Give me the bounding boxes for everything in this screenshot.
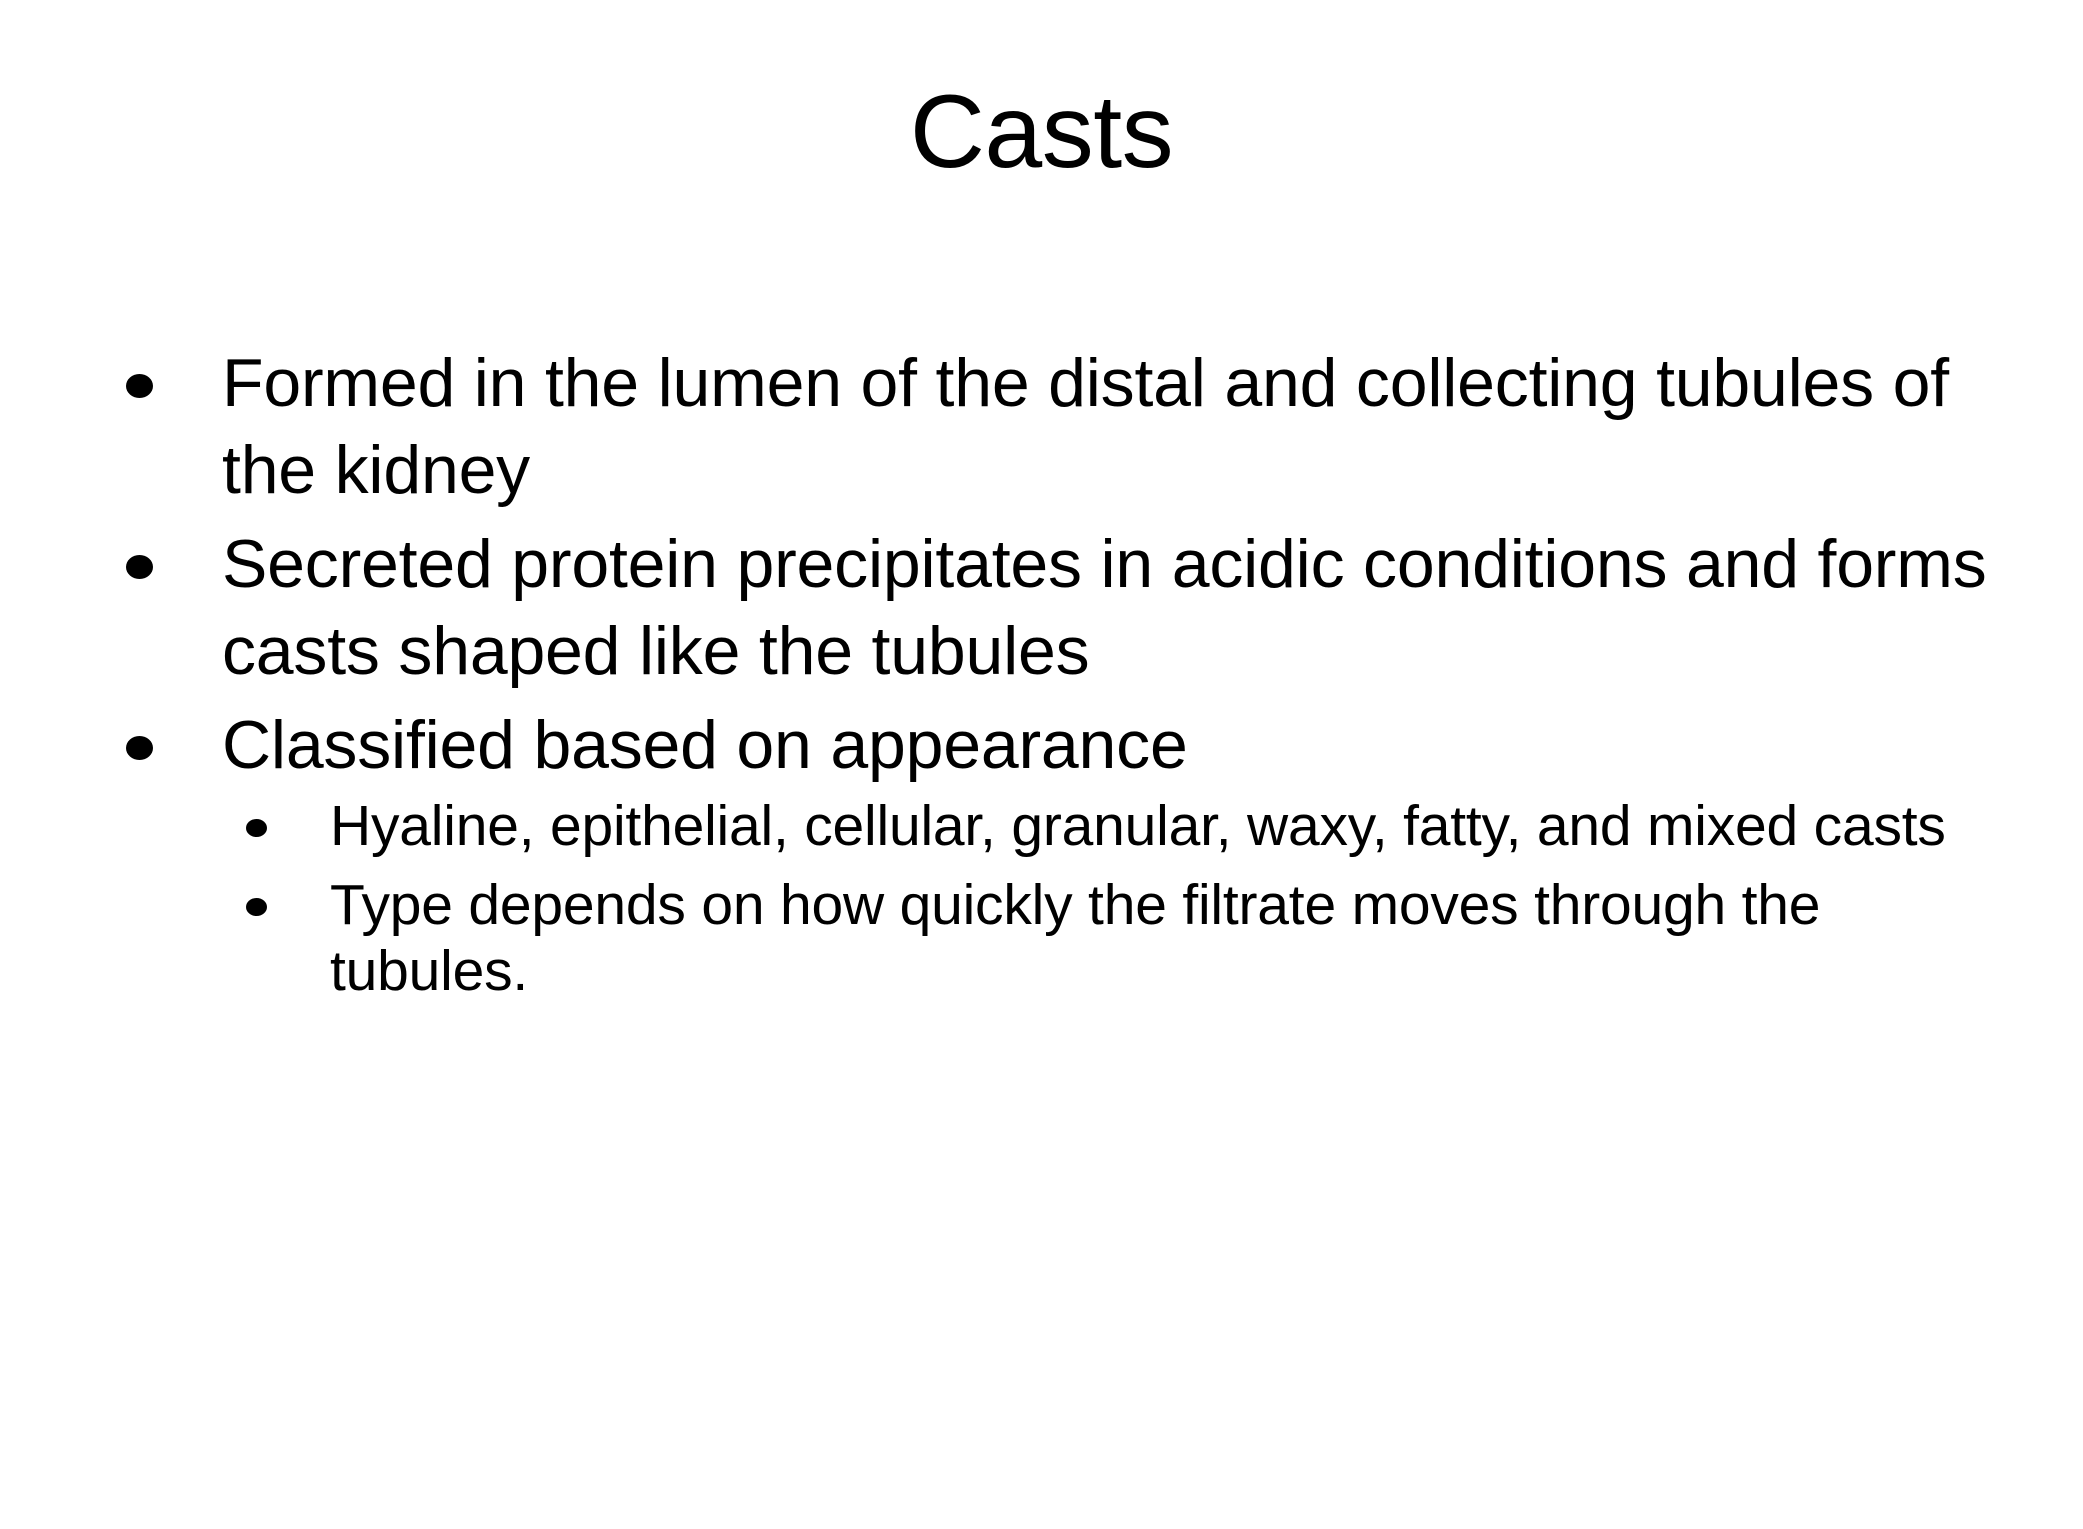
filled-ellipse-bullet-icon — [126, 374, 153, 398]
list-item: Type depends on how quickly the filtrate… — [222, 872, 2018, 1005]
slide-title: Casts — [0, 76, 2083, 188]
filled-ellipse-bullet-icon — [246, 898, 267, 916]
list-item: Classified based on appearance Hyaline, … — [108, 702, 2018, 1005]
list-item: Formed in the lumen of the distal and co… — [108, 340, 2018, 515]
presentation-slide: Casts Formed in the lumen of the distal … — [0, 0, 2083, 1529]
bullet-text: Formed in the lumen of the distal and co… — [222, 340, 2018, 515]
bullet-text: Secreted protein precipitates in acidic … — [222, 521, 2018, 696]
sub-bullet-text: Hyaline, epithelial, cellular, granular,… — [330, 793, 2018, 860]
filled-ellipse-bullet-icon — [126, 555, 153, 579]
sub-bullet-text: Type depends on how quickly the filtrate… — [330, 872, 2018, 1005]
filled-ellipse-bullet-icon — [246, 819, 267, 837]
bullet-text: Classified based on appearance — [222, 702, 2018, 789]
slide-body: Formed in the lumen of the distal and co… — [108, 340, 2018, 1017]
list-item: Secreted protein precipitates in acidic … — [108, 521, 2018, 696]
filled-ellipse-bullet-icon — [126, 736, 153, 760]
bullet-list-level1: Formed in the lumen of the distal and co… — [108, 340, 2018, 1005]
bullet-list-level2: Hyaline, epithelial, cellular, granular,… — [222, 793, 2018, 1005]
list-item: Hyaline, epithelial, cellular, granular,… — [222, 793, 2018, 860]
